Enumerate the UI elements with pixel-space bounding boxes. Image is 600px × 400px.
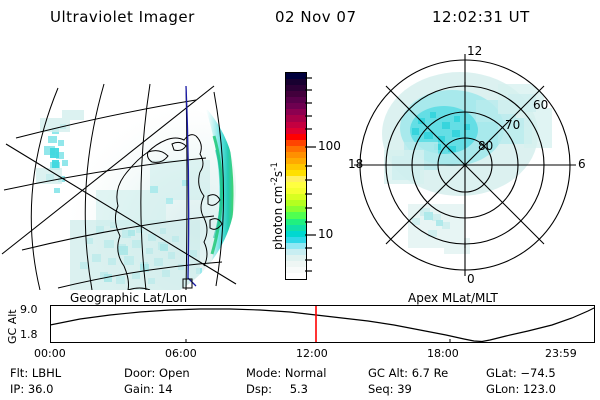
orbit-x-tick-0: 00:00: [34, 347, 66, 360]
status-dsp-row: Dsp: 5.3: [246, 382, 308, 396]
polar-mlt-label-18: 18: [348, 157, 363, 171]
status-door-value: Open: [159, 366, 190, 380]
status-mode-row: Mode: Normal: [246, 366, 326, 380]
orbit-y-min-label: 1.8: [20, 328, 38, 341]
colorbar-ticks: [305, 72, 345, 278]
orbit-x-tick-1: 06:00: [165, 347, 197, 360]
status-ip-value: 36.0: [28, 382, 54, 396]
status-mode-key: Mode:: [246, 366, 281, 380]
orbit-x-tick-2: 12:00: [296, 347, 328, 360]
colorbar-tick-label-10: 10: [318, 227, 333, 241]
orbit-x-tick-3: 18:00: [427, 347, 459, 360]
status-gain-key: Gain:: [124, 382, 154, 396]
status-gcalt-value: 6.7 Re: [412, 366, 449, 380]
status-glon-row: GLon: 123.0: [486, 382, 556, 396]
status-door-row: Door: Open: [124, 366, 190, 380]
status-seq-value: 39: [397, 382, 412, 396]
orbit-altitude-plot: [50, 305, 595, 343]
status-flt-key: Flt:: [10, 366, 28, 380]
status-seq-key: Seq:: [368, 382, 394, 396]
instrument-title: Ultraviolet Imager: [50, 8, 195, 26]
status-seq-row: Seq: 39: [368, 382, 412, 396]
status-ip-key: IP:: [10, 382, 24, 396]
status-gcalt-key: GC Alt:: [368, 366, 408, 380]
globe-panel-title: Geographic Lat/Lon: [70, 291, 187, 305]
observation-time: 12:02:31 UT: [432, 8, 530, 26]
colorbar-axis-label: photon cm-2s-1: [258, 60, 270, 250]
status-mode-value: Normal: [285, 366, 327, 380]
status-flt-value: LBHL: [32, 366, 61, 380]
orbit-x-tick-4: 23:59: [545, 347, 577, 360]
status-ip-row: IP: 36.0: [10, 382, 53, 396]
polar-panel-title: Apex MLat/MLT: [408, 291, 498, 305]
status-dsp-key: Dsp:: [246, 382, 272, 396]
observation-date: 02 Nov 07: [275, 8, 357, 26]
orbit-y-max-label: 9.0: [20, 303, 38, 316]
status-door-key: Door:: [124, 366, 155, 380]
colorbar-unit-prefix: photon cm: [271, 186, 285, 250]
orbit-y-axis-title: GC Alt: [6, 309, 19, 344]
polar-mlt-label-0: 0: [467, 272, 475, 286]
status-dsp-value: 5.3: [290, 382, 308, 396]
colorbar-gradient: [285, 72, 307, 280]
colorbar-band-33: [286, 273, 306, 279]
status-gain-value: 14: [158, 382, 173, 396]
colorbar-tick-label-100: 100: [318, 139, 341, 153]
colorbar-unit-exp1: -2: [270, 177, 280, 186]
status-glat-key: GLat:: [486, 366, 517, 380]
status-glat-row: GLat: −74.5: [486, 366, 556, 380]
status-flt-row: Flt: LBHL: [10, 366, 61, 380]
apex-polar-image: [348, 38, 600, 292]
polar-mlat-label-80: 80: [478, 139, 493, 153]
status-gain-row: Gain: 14: [124, 382, 173, 396]
status-gcalt-row: GC Alt: 6.7 Re: [368, 366, 448, 380]
polar-mlt-label-6: 6: [578, 157, 586, 171]
geographic-globe-image: [0, 40, 260, 290]
status-glon-value: 123.0: [523, 382, 556, 396]
colorbar-unit-exp2: -1: [270, 162, 280, 171]
colorbar-unit-mid: s: [271, 171, 285, 177]
polar-mlat-label-60: 60: [533, 98, 548, 112]
polar-mlat-label-70: 70: [505, 118, 520, 132]
status-glat-value: −74.5: [520, 366, 555, 380]
polar-mlt-label-12: 12: [467, 44, 482, 58]
status-glon-key: GLon:: [486, 382, 519, 396]
